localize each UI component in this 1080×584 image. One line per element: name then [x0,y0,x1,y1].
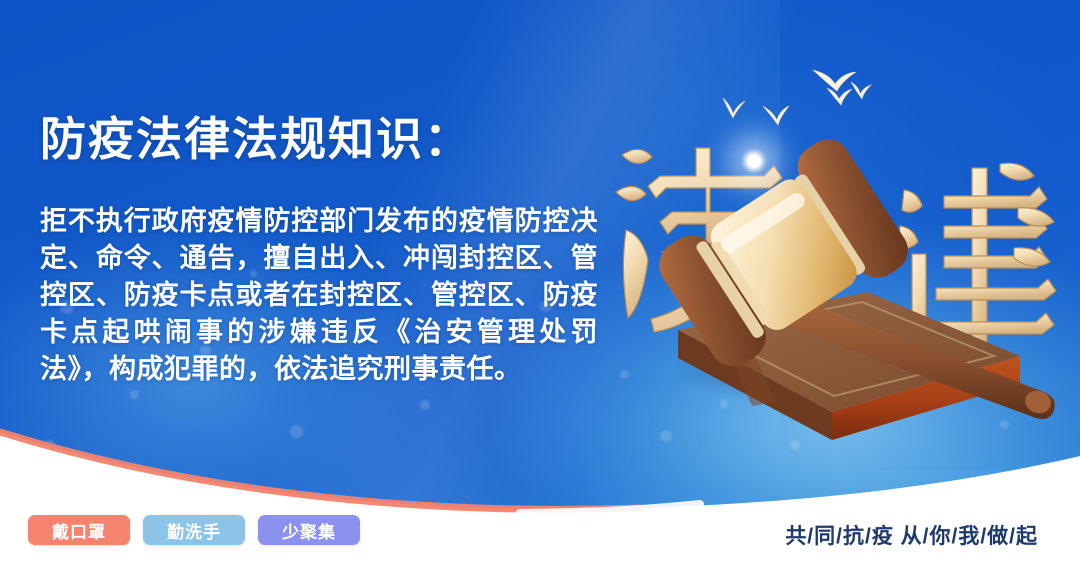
prevention-tips: 戴口罩 勤洗手 少聚集 [28,515,360,545]
pill-wash-hands[interactable]: 勤洗手 [143,515,245,545]
birds-group [695,58,885,153]
slogan-text: 共/同/抗/疫 从/你/我/做/起 [785,520,1038,550]
body-paragraph: 拒不执行政府疫情防控部门发布的疫情防控决定、命令、通告，擅自出入、冲闯封控区、管… [40,203,598,388]
pill-wear-mask[interactable]: 戴口罩 [28,515,130,545]
pill-label: 少聚集 [282,518,336,543]
bird-icon [813,70,856,91]
pill-label: 勤洗手 [167,518,221,543]
bird-icon [763,106,789,125]
bird-icon [827,88,852,105]
bird-icon [723,98,745,118]
pill-label: 戴口罩 [52,518,106,543]
bird-icon [851,82,871,99]
poster-banner: 防疫法律法规知识： 拒不执行政府疫情防控部门发布的疫情防控决定、命令、通告，擅自… [0,0,1080,584]
page-title: 防疫法律法规知识： [40,116,472,162]
pill-avoid-crowds[interactable]: 少聚集 [258,515,360,545]
bottom-wave [0,384,1080,584]
